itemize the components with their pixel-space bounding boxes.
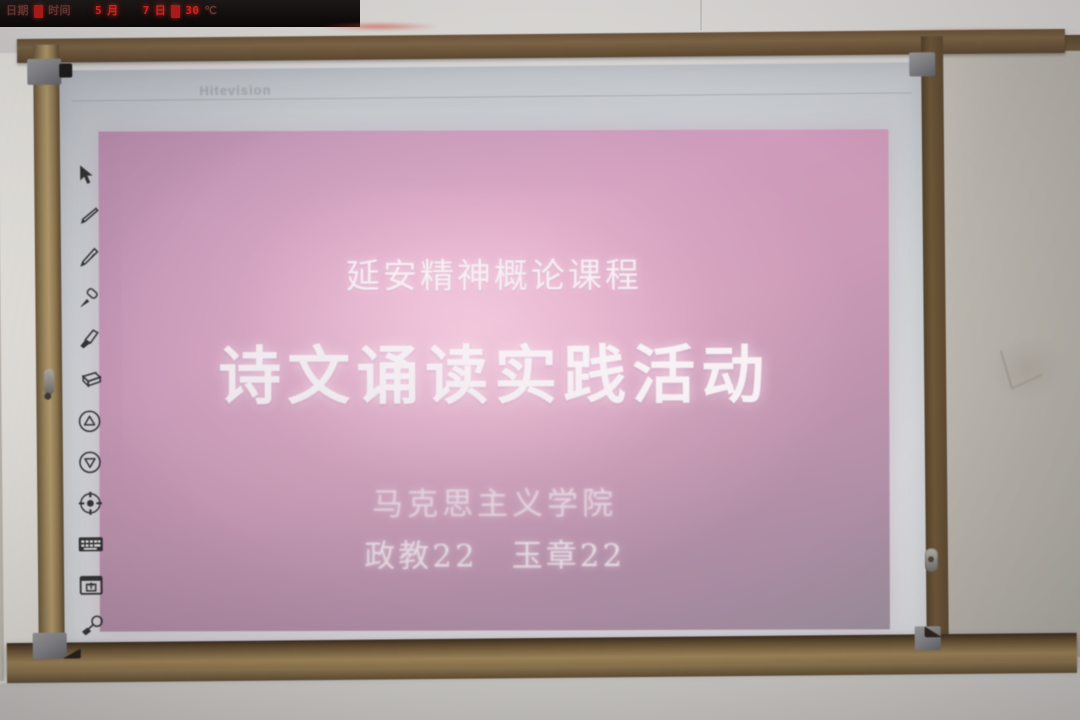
bracket-screw-top-left (59, 63, 72, 77)
highlighter-icon[interactable] (76, 326, 102, 352)
window-icon[interactable] (78, 572, 104, 598)
target-icon[interactable] (77, 490, 103, 516)
slide-organization: 马克思主义学院 (100, 477, 890, 524)
whiteboard-toolbar[interactable] (70, 162, 110, 650)
corner-bracket-top-left (27, 59, 61, 85)
keyboard-icon[interactable] (78, 531, 104, 557)
board-brand-logo: Hitevision (199, 83, 271, 99)
clock-time-label: 时间 (48, 3, 71, 19)
left-edge-sensor (44, 369, 54, 395)
corner-bracket-bottom-left (33, 633, 67, 659)
eraser-icon[interactable] (76, 367, 102, 393)
clock-temp-unit: ℃ (205, 3, 218, 19)
pencil-icon[interactable] (75, 244, 101, 270)
spotlight-icon[interactable] (78, 613, 104, 639)
clock-led-block-1 (34, 5, 43, 18)
classroom-scene: 日期 时间 5 月 7 日 30 ℃ Hitevision (0, 0, 1080, 720)
triangle-down-icon[interactable] (77, 449, 103, 475)
corner-bracket-top-right (909, 52, 935, 76)
frame-top (17, 29, 1065, 63)
clock-month-unit: 月 (107, 3, 119, 19)
board-top-hairline (72, 92, 912, 101)
slide-subtitle: 延安精神概论课程 (99, 247, 889, 298)
whiteboard-rig: Hitevision 延安精神概论课程 诗文诵读实践活动 马克思主义学院 政教2… (0, 13, 1080, 703)
clock-month-value: 5 (95, 3, 102, 19)
projected-slide: 延安精神概论课程 诗文诵读实践活动 马克思主义学院 政教22 玉章22 (98, 129, 889, 631)
triangle-up-icon[interactable] (76, 408, 102, 434)
left-edge-sensor-dot (44, 393, 51, 400)
right-edge-sensor-dot (928, 556, 934, 562)
clock-led-block-2 (171, 5, 180, 18)
clock-date-label: 日期 (6, 3, 29, 19)
clock-day-unit: 日 (155, 3, 167, 19)
clock-time-value: 30 (185, 3, 199, 19)
slide-title: 诗文诵读实践活动 (99, 324, 889, 417)
cursor-icon[interactable] (74, 162, 100, 188)
interactive-whiteboard-surface[interactable]: Hitevision 延安精神概论课程 诗文诵读实践活动 马克思主义学院 政教2… (59, 62, 927, 650)
slide-classes: 政教22 玉章22 (100, 529, 890, 576)
pen-icon[interactable] (74, 203, 100, 229)
marker-icon[interactable] (75, 285, 101, 311)
clock-day-value: 7 (143, 3, 150, 19)
